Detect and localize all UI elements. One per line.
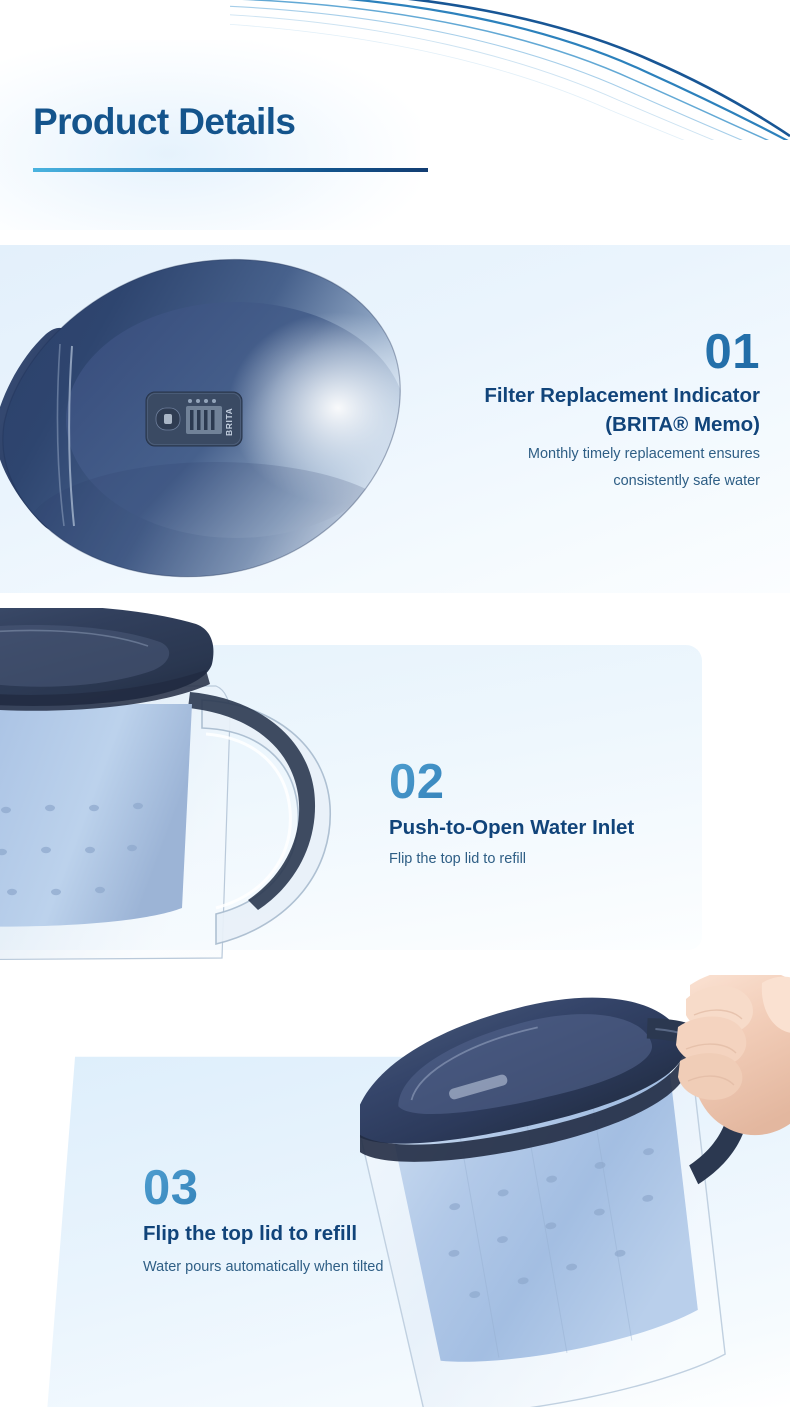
section-1-product-image: BRITA — [0, 232, 406, 600]
section-2-text-block: 02 Push-to-Open Water Inlet Flip the top… — [389, 758, 634, 871]
section-1-heading-line1: Filter Replacement Indicator — [484, 381, 760, 410]
section-1-sub-line1: Monthly timely replacement ensures — [484, 443, 760, 465]
section-2-number: 02 — [389, 758, 634, 807]
section-1-text-block: 01 Filter Replacement Indicator (BRITA® … — [484, 328, 760, 492]
section-3-text-block: 03 Flip the top lid to refill Water pour… — [143, 1164, 383, 1279]
section-1-sub-line2: consistently safe water — [484, 470, 760, 492]
section-2-sub-line1: Flip the top lid to refill — [389, 848, 634, 870]
page-title: Product Details — [33, 101, 295, 144]
section-3-number: 03 — [143, 1164, 383, 1213]
section-2-product-image — [0, 608, 374, 970]
brita-memo-indicator: BRITA — [146, 392, 242, 446]
section-3-sub-line1: Water pours automatically when tilted — [143, 1256, 383, 1278]
pitcher-funnel — [0, 704, 192, 927]
section-3-product-image — [360, 975, 790, 1407]
svg-text:BRITA: BRITA — [224, 408, 234, 436]
page-header: Product Details — [0, 0, 790, 230]
section-1-number: 01 — [484, 328, 760, 377]
section-2-heading-line1: Push-to-Open Water Inlet — [389, 813, 634, 842]
wave-lines-decoration — [230, 0, 790, 140]
section-1-heading-line2: (BRITA® Memo) — [484, 410, 760, 439]
title-underline — [33, 168, 428, 172]
section-3-heading-line1: Flip the top lid to refill — [143, 1219, 383, 1248]
